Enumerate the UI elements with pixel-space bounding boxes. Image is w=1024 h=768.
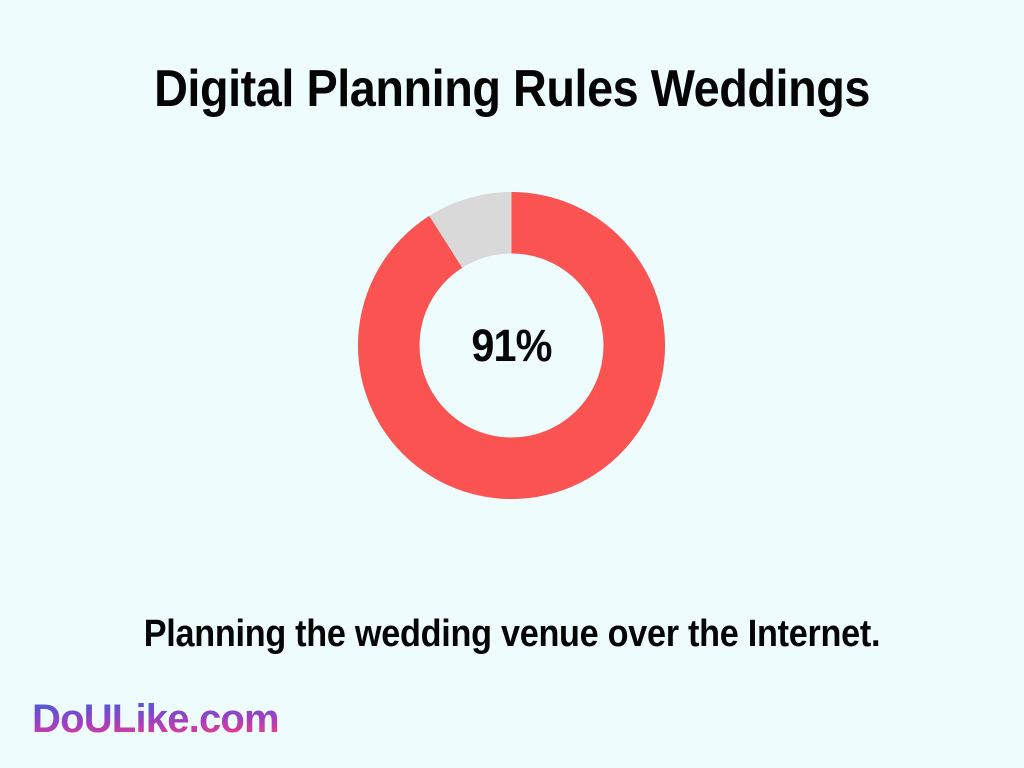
infographic-canvas: Digital Planning Rules Weddings 91% Plan… xyxy=(0,0,1024,768)
donut-hole xyxy=(420,254,604,438)
donut-chart: 91% xyxy=(358,192,665,499)
page-title: Digital Planning Rules Weddings xyxy=(51,57,973,121)
chart-caption: Planning the wedding venue over the Inte… xyxy=(51,611,973,657)
donut-chart-svg xyxy=(358,192,665,499)
brand-logo[interactable]: DoULike.com xyxy=(32,697,279,741)
